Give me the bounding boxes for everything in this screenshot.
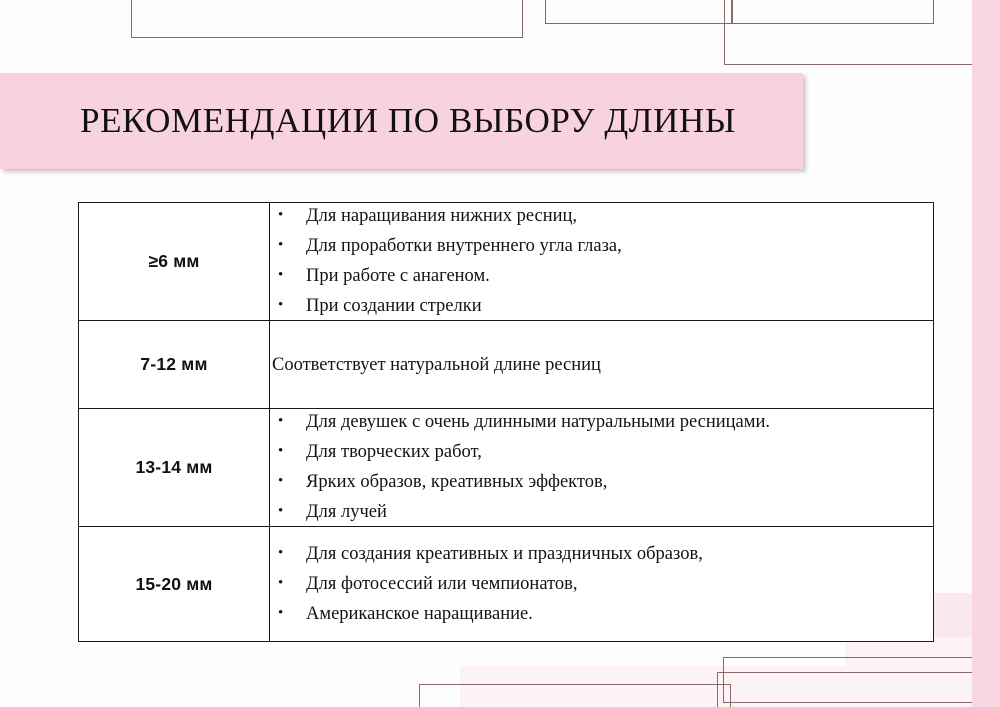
list-item: Для творческих работ,: [270, 439, 933, 466]
page-title: РЕКОМЕНДАЦИИ ПО ВЫБОРУ ДЛИНЫ: [80, 101, 736, 141]
decor-band-right: [972, 0, 1000, 707]
list-item: При работе с анагеном.: [270, 263, 933, 290]
decor-fill-bottom-right-soft: [845, 637, 973, 707]
decor-rect-top-left: [131, 0, 523, 38]
decor-rect-top-right-lower: [724, 0, 990, 65]
table-row: 7-12 мм Соответствует натуральной длине …: [79, 321, 934, 409]
length-description-cell: Для наращивания нижних ресниц, Для прора…: [270, 203, 934, 321]
decor-rect-bottom-center: [717, 672, 1000, 707]
list-item: Для наращивания нижних ресниц,: [270, 203, 933, 230]
length-description-cell: Для создания креативных и праздничных об…: [270, 527, 934, 642]
bullet-list: Для наращивания нижних ресниц, Для прора…: [270, 203, 933, 320]
list-item: Для создания креативных и праздничных об…: [270, 541, 933, 568]
list-item: Для фотосессий или чемпионатов,: [270, 571, 933, 598]
bullet-list: Для девушек с очень длинными натуральным…: [270, 409, 933, 526]
bullet-list: Для создания креативных и праздничных об…: [270, 541, 933, 628]
length-range-cell: 15-20 мм: [79, 527, 270, 642]
decor-rect-bottom-left: [419, 684, 731, 707]
list-item: Для проработки внутреннего угла глаза,: [270, 233, 933, 260]
title-banner: РЕКОМЕНДАЦИИ ПО ВЫБОРУ ДЛИНЫ: [0, 73, 803, 169]
decor-rect-bottom-right: [723, 657, 1000, 703]
length-description-cell: Для девушек с очень длинными натуральным…: [270, 409, 934, 527]
list-item: При создании стрелки: [270, 293, 933, 320]
length-description-cell: Соответствует натуральной длине ресниц: [270, 321, 934, 409]
table-row: ≥6 мм Для наращивания нижних ресниц, Для…: [79, 203, 934, 321]
length-range-cell: 13-14 мм: [79, 409, 270, 527]
list-item: Американское наращивание.: [270, 601, 933, 628]
length-recommendation-table: ≥6 мм Для наращивания нижних ресниц, Для…: [78, 202, 934, 642]
decor-rect-top-center: [545, 0, 733, 24]
description-text: Соответствует натуральной длине ресниц: [270, 352, 933, 378]
decor-rect-top-right-upper: [731, 0, 934, 24]
list-item: Ярких образов, креативных эффектов,: [270, 469, 933, 496]
length-range-cell: 7-12 мм: [79, 321, 270, 409]
list-item: Для лучей: [270, 499, 933, 526]
decor-fill-bottom-left: [460, 666, 850, 707]
table-row: 15-20 мм Для создания креативных и празд…: [79, 527, 934, 642]
table-row: 13-14 мм Для девушек с очень длинными на…: [79, 409, 934, 527]
list-item: Для девушек с очень длинными натуральным…: [270, 409, 933, 436]
length-range-cell: ≥6 мм: [79, 203, 270, 321]
slide-canvas: РЕКОМЕНДАЦИИ ПО ВЫБОРУ ДЛИНЫ ≥6 мм Для н…: [0, 0, 1000, 707]
